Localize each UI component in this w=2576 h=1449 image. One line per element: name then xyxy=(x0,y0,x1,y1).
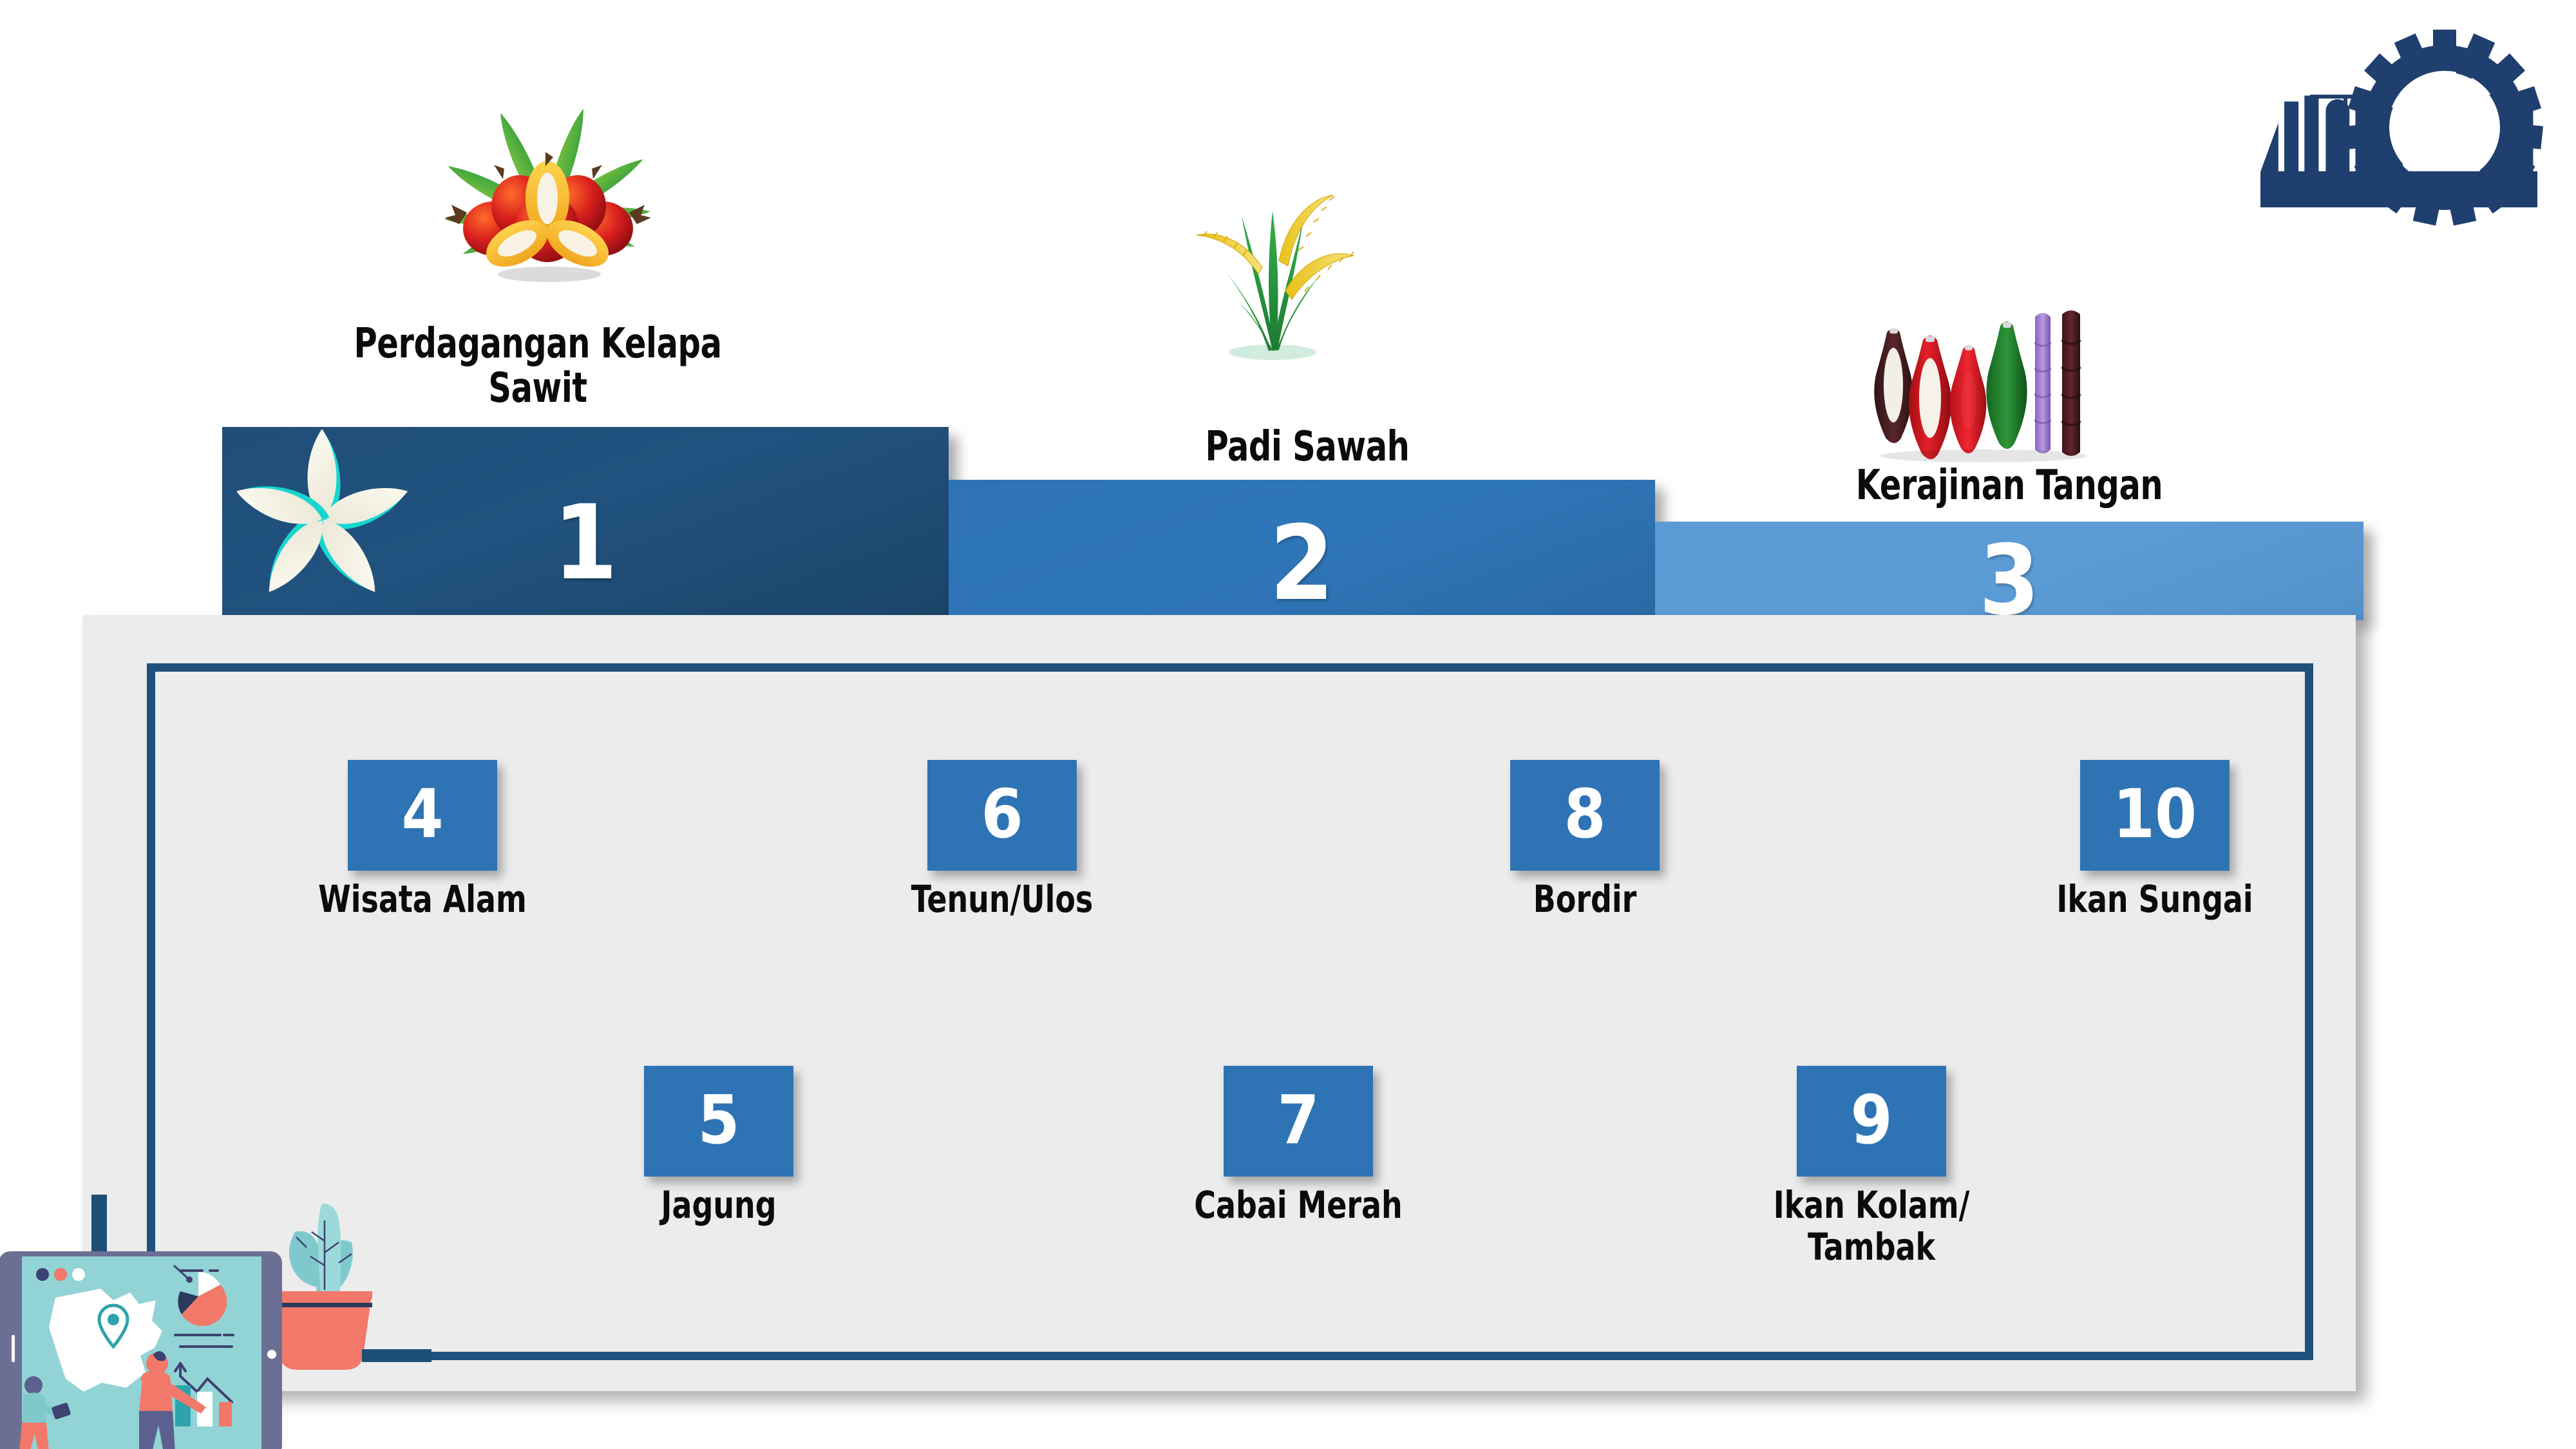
rank-tile-6-number: 6 xyxy=(981,781,1023,848)
rank-tile-4-label: Wisata Alam xyxy=(318,878,527,920)
rank-tile-7-label: Cabai Merah xyxy=(1194,1184,1402,1226)
rank-tile-10-label: Ikan Sungai xyxy=(2056,878,2253,920)
podium-rank-1: 1 xyxy=(222,491,949,594)
podium-label-1: Perdagangan Kelapa Sawit xyxy=(314,322,762,411)
rank-tile-7-number: 7 xyxy=(1277,1086,1319,1153)
rank-tile-6[interactable]: 6 Tenun/Ulos xyxy=(927,760,1077,871)
slide-canvas: Perdagangan Kelapa Sawit Padi Sawah Kera… xyxy=(0,0,2576,1449)
rank-tile-6-label: Tenun/Ulos xyxy=(911,878,1093,920)
rank-tile-8-number: 8 xyxy=(1564,781,1605,848)
rank-tile-8-label: Bordir xyxy=(1533,878,1636,920)
podium-label-3: Kerajinan Tangan xyxy=(1799,464,2220,508)
rank-tile-6-box[interactable]: 6 xyxy=(927,760,1077,871)
rank-tile-4-number: 4 xyxy=(401,781,443,848)
podium-block-2[interactable]: 2 xyxy=(949,480,1655,620)
podium-rank-2: 2 xyxy=(949,512,1655,615)
industry-gear-logo xyxy=(2248,12,2550,250)
rank-tile-9[interactable]: 9 Ikan Kolam/ Tambak xyxy=(1797,1066,1946,1177)
rank-tile-4[interactable]: 4 Wisata Alam xyxy=(348,760,497,871)
rank-tile-5-label: Jagung xyxy=(661,1184,776,1226)
palm-oil-fruit-icon xyxy=(377,97,718,309)
rank-tile-8[interactable]: 8 Bordir xyxy=(1510,760,1660,871)
rank-tile-7-box[interactable]: 7 xyxy=(1224,1066,1373,1177)
rice-plant-icon xyxy=(1166,177,1378,370)
handicraft-vases-icon xyxy=(1861,309,2132,464)
data-presentation-illustration xyxy=(0,1195,431,1449)
rank-tile-10[interactable]: 10 Ikan Sungai xyxy=(2080,760,2230,871)
rank-tile-5[interactable]: 5 Jagung xyxy=(644,1066,793,1177)
podium-block-1[interactable]: 1 xyxy=(222,427,949,620)
rank-tile-4-box[interactable]: 4 xyxy=(348,760,497,871)
podium-label-2: Padi Sawah xyxy=(1113,425,1501,469)
rank-tile-7[interactable]: 7 Cabai Merah xyxy=(1224,1066,1373,1177)
rank-tile-10-number: 10 xyxy=(2113,781,2197,848)
rank-tile-8-box[interactable]: 8 xyxy=(1510,760,1660,871)
podium-block-3[interactable]: 3 xyxy=(1655,522,2363,620)
rank-tile-9-label: Ikan Kolam/ Tambak xyxy=(1752,1184,1991,1268)
rank-tile-10-box[interactable]: 10 xyxy=(2080,760,2230,871)
rank-tile-5-number: 5 xyxy=(697,1086,739,1153)
rank-tile-9-number: 9 xyxy=(1850,1086,1892,1153)
rank-tile-5-box[interactable]: 5 xyxy=(644,1066,793,1177)
rank-tile-9-box[interactable]: 9 xyxy=(1797,1066,1946,1177)
